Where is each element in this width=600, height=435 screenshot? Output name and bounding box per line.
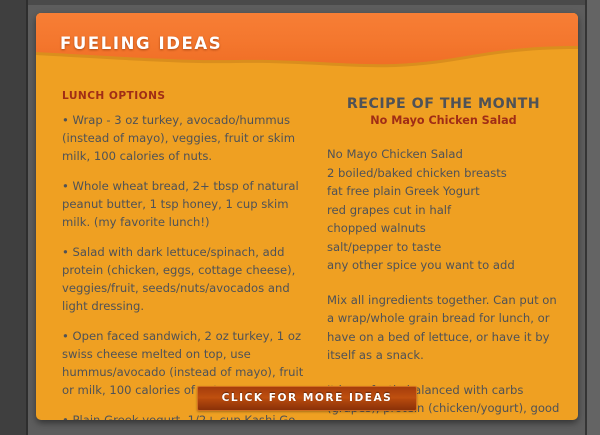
lunch-options-heading: LUNCH OPTIONS [62, 90, 309, 102]
window-left-margin-edge [26, 0, 28, 435]
click-for-more-ideas-button[interactable]: CLICK FOR MORE IDEAS [197, 386, 418, 411]
recipe-instructions: Mix all ingredients together. Can put on… [327, 291, 560, 365]
card-header: FUELING IDEAS [36, 13, 578, 85]
window-top-band [0, 0, 600, 5]
list-item: • Wrap - 3 oz turkey, avocado/hummus (in… [62, 111, 309, 165]
list-item: • Whole wheat bread, 2+ tbsp of natural … [62, 177, 309, 231]
recipe-ingredients-list: No Mayo Chicken Salad 2 boiled/baked chi… [327, 145, 560, 275]
cta-container: CLICK FOR MORE IDEAS [36, 386, 578, 411]
lunch-options-column: LUNCH OPTIONS • Wrap - 3 oz turkey, avoc… [54, 85, 325, 420]
fueling-ideas-card: FUELING IDEAS LUNCH OPTIONS • Wrap - 3 o… [36, 13, 578, 420]
page-viewport: FUELING IDEAS LUNCH OPTIONS • Wrap - 3 o… [0, 0, 600, 435]
window-scrollbar-track[interactable] [587, 0, 600, 435]
list-item: • Salad with dark lettuce/spinach, add p… [62, 243, 309, 315]
list-item: • Plain Greek yogurt, 1/2+ cup Kashi Go … [62, 411, 309, 420]
recipe-of-the-month-column: RECIPE OF THE MONTH No Mayo Chicken Sala… [325, 85, 560, 420]
card-body: LUNCH OPTIONS • Wrap - 3 oz turkey, avoc… [36, 85, 578, 420]
window-scrollbar-edge [585, 0, 587, 435]
window-left-margin [0, 0, 26, 435]
page-title: FUELING IDEAS [60, 34, 222, 53]
recipe-subheading: No Mayo Chicken Salad [327, 114, 560, 127]
recipe-heading: RECIPE OF THE MONTH [327, 96, 560, 112]
